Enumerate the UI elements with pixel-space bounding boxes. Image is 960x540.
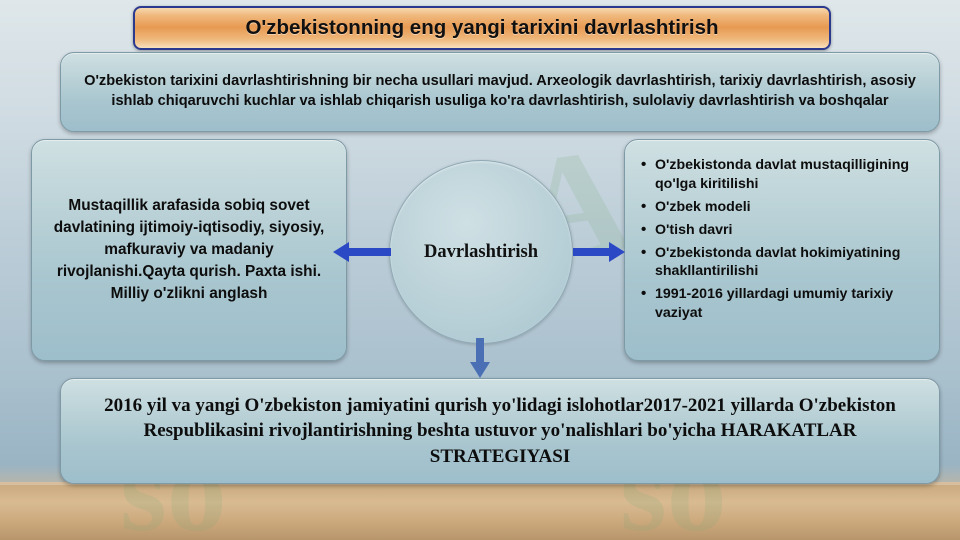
intro-panel: O'zbekiston tarixini davrlashtirishning … — [60, 52, 940, 132]
floor-strip — [0, 482, 960, 540]
bottom-strategy-text: 2016 yil va yangi O'zbekiston jamiyatini… — [87, 393, 913, 470]
slide-canvas: A A so so O'zbekistonning eng yangi tari… — [0, 0, 960, 540]
bottom-strategy-panel: 2016 yil va yangi O'zbekiston jamiyatini… — [60, 378, 940, 484]
list-item: O'zbekistonda davlat hokimiyatining shak… — [639, 244, 929, 282]
left-period-panel: Mustaqillik arafasida sobiq sovet davlat… — [31, 139, 347, 361]
slide-title-banner: O'zbekistonning eng yangi tarixini davrl… — [133, 6, 831, 50]
arrow-down-icon — [468, 338, 492, 378]
left-period-text: Mustaqillik arafasida sobiq sovet davlat… — [46, 195, 332, 304]
intro-text: O'zbekiston tarixini davrlashtirishning … — [77, 72, 923, 111]
right-topics-panel: O'zbekistonda davlat mustaqilligining qo… — [624, 139, 940, 361]
list-item: O'zbek modeli — [639, 198, 929, 217]
arrow-left-icon — [333, 241, 391, 263]
list-item: 1991-2016 yillardagi umumiy tarixiy vazi… — [639, 285, 929, 323]
slide-title-text: O'zbekistonning eng yangi tarixini davrl… — [245, 16, 718, 40]
list-item: O'zbekistonda davlat mustaqilligining qo… — [639, 156, 929, 194]
center-concept-oval: Davrlashtirish — [389, 160, 573, 344]
arrow-right-icon — [573, 241, 625, 263]
center-concept-label: Davrlashtirish — [424, 242, 538, 263]
list-item: O'tish davri — [639, 221, 929, 240]
right-topics-list: O'zbekistonda davlat mustaqilligining qo… — [639, 156, 929, 323]
